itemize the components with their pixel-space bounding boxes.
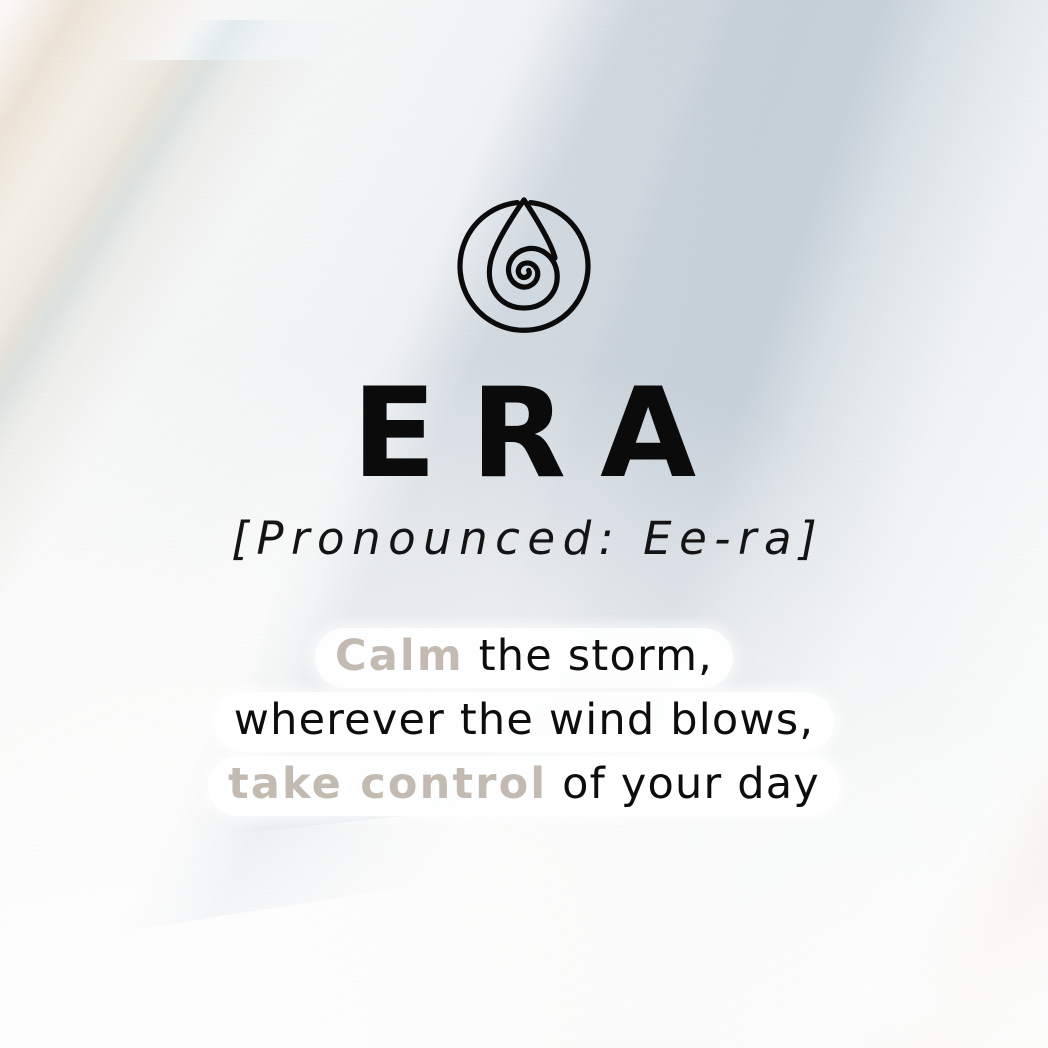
pronunciation-text: [Pronounced: Ee-ra] — [0, 512, 1048, 566]
tagline-line-2: wherever the wind blows, — [214, 692, 834, 752]
tagline-plain-2: wherever the wind blows, — [234, 695, 814, 745]
brand-content: ERA [Pronounced: Ee-ra] Calm the storm, … — [0, 0, 1048, 1048]
tagline-line-1: Calm the storm, — [315, 628, 733, 688]
tagline-line-3: take control of your day — [208, 756, 840, 816]
water-droplet-spiral-icon — [454, 196, 594, 336]
tagline-accent-3: take control — [228, 759, 547, 809]
tagline-accent-1: Calm — [335, 631, 464, 681]
brand-card-canvas: ERA [Pronounced: Ee-ra] Calm the storm, … — [0, 0, 1048, 1048]
tagline-plain-1: the storm, — [464, 631, 713, 681]
page-title: ERA — [0, 372, 1048, 496]
tagline-block: Calm the storm, wherever the wind blows,… — [0, 628, 1048, 816]
tagline-plain-3: of your day — [547, 759, 820, 809]
